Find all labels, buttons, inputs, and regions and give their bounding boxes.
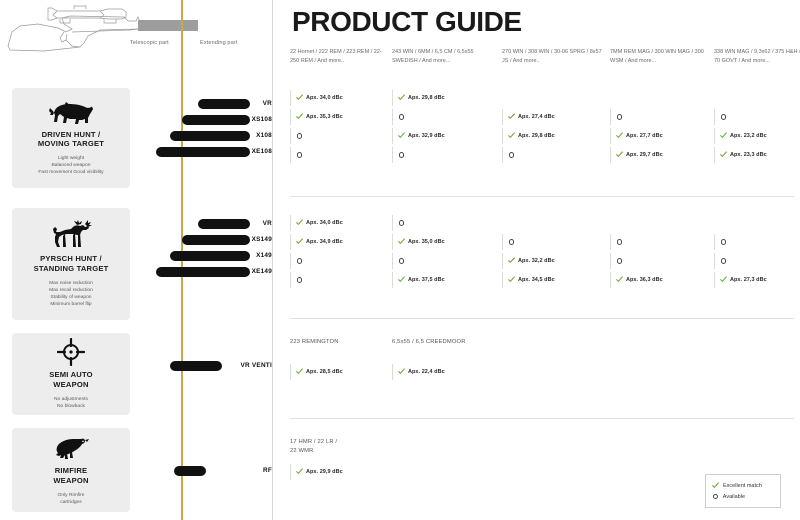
cell-value: Apx. 34,0 dBc xyxy=(306,220,343,226)
circle-icon xyxy=(297,152,302,157)
rifle-illustration xyxy=(4,2,234,54)
product-row[interactable]: XE108 xyxy=(140,144,272,160)
category-card-3[interactable]: RIMFIRE WEAPONOnly Rimfire cartridges xyxy=(12,428,130,512)
product-label: XS149 xyxy=(252,236,272,243)
moose-icon xyxy=(47,220,95,250)
category-subtitle: Max noise reduction Max recoil reduction… xyxy=(49,280,93,308)
match-cell xyxy=(714,234,800,250)
check-icon xyxy=(296,238,303,245)
product-label: X108 xyxy=(256,132,272,139)
match-cell: Apx. 23,2 dBc xyxy=(714,128,800,144)
product-group-2: VR VENTI xyxy=(140,358,272,374)
match-cell xyxy=(290,272,392,288)
match-cell: Apx. 35,3 dBc xyxy=(290,109,392,125)
cell-value: Apx. 36,3 dBc xyxy=(626,277,663,283)
circle-icon xyxy=(721,239,726,244)
check-icon xyxy=(720,132,727,139)
cell-value: Apx. 29,7 dBc xyxy=(626,152,663,158)
circle-icon xyxy=(617,258,622,263)
product-bar xyxy=(174,466,206,476)
match-cell: Apx. 23,3 dBc xyxy=(714,147,800,163)
boar-icon xyxy=(47,100,95,126)
check-icon xyxy=(398,276,405,283)
cell-value: Apx. 29,8 dBc xyxy=(408,95,445,101)
check-icon xyxy=(296,219,303,226)
match-cell: Apx. 29,7 dBc xyxy=(610,147,712,163)
category-subtitle: Only Rimfire cartridges xyxy=(58,492,85,506)
product-group-3: RF xyxy=(140,463,272,479)
category-title: SEMI AUTO WEAPON xyxy=(49,370,93,389)
column-header-4: 338 WIN MAG / 9,3x62 / 375 H&H / 45-70 G… xyxy=(714,48,800,66)
cell-value: Apx. 34,9 dBc xyxy=(306,239,343,245)
match-cell: Apx. 27,3 dBc xyxy=(714,272,800,288)
match-cell: Apx. 35,0 dBc xyxy=(392,234,494,250)
match-cell: Apx. 27,7 dBc xyxy=(610,128,712,144)
circle-icon xyxy=(721,258,726,263)
cell-value: Apx. 29,9 dBc xyxy=(306,469,343,475)
circle-icon xyxy=(509,152,514,157)
section-divider-2 xyxy=(290,418,794,419)
check-icon xyxy=(398,94,405,101)
section-divider-0 xyxy=(290,196,794,197)
product-row[interactable]: VR xyxy=(140,96,272,112)
check-icon xyxy=(398,238,405,245)
cell-value: Apx. 27,7 dBc xyxy=(626,133,663,139)
column-header-1: 243 WIN / 6MM / 6,5 CM / 6,5x55 SWEDISH … xyxy=(392,48,492,66)
extending-part-label: Extending part xyxy=(200,40,237,46)
match-cell: Apx. 34,5 dBc xyxy=(502,272,604,288)
right-panel: PRODUCT GUIDE 22 Hornet / 222 REM / 223 … xyxy=(272,0,800,520)
cell-value: Apx. 34,0 dBc xyxy=(306,95,343,101)
match-cell: Apx. 34,0 dBc xyxy=(290,215,392,231)
match-cell: Apx. 29,9 dBc xyxy=(290,464,392,480)
check-icon xyxy=(296,94,303,101)
product-bar xyxy=(156,267,250,277)
check-icon xyxy=(508,132,515,139)
circle-icon xyxy=(399,258,404,263)
circle-icon xyxy=(297,277,302,282)
match-cell: Apx. 27,4 dBc xyxy=(502,109,604,125)
match-cell xyxy=(610,234,712,250)
match-cell: Apx. 34,9 dBc xyxy=(290,234,392,250)
grouse-icon xyxy=(51,434,91,462)
match-cell xyxy=(502,147,604,163)
match-cell xyxy=(290,128,392,144)
match-cell xyxy=(392,253,494,269)
circle-icon xyxy=(297,258,302,263)
product-bar xyxy=(156,147,250,157)
column-header-3: 7MM REM MAG / 300 WIN MAG / 300 WSM / An… xyxy=(610,48,710,66)
check-icon xyxy=(296,368,303,375)
check-icon xyxy=(720,276,727,283)
check-icon xyxy=(712,482,719,489)
product-guide-page: Telescopic part Extending part DRIVEN HU… xyxy=(0,0,800,520)
check-icon xyxy=(616,132,623,139)
circle-icon xyxy=(713,494,718,499)
circle-icon xyxy=(509,239,514,244)
cell-value: Apx. 22,4 dBc xyxy=(408,369,445,375)
check-icon xyxy=(720,151,727,158)
category-subtitle: No adjustments No blowback xyxy=(54,396,88,410)
match-cell xyxy=(502,234,604,250)
match-cell: Apx. 29,8 dBc xyxy=(392,90,494,106)
cell-value: Apx. 23,3 dBc xyxy=(730,152,767,158)
check-icon xyxy=(508,276,515,283)
product-row[interactable]: VR xyxy=(140,216,272,232)
product-row[interactable]: XE149 xyxy=(140,264,272,280)
check-icon xyxy=(508,257,515,264)
legend-excellent-label: Excellent match xyxy=(723,483,762,489)
check-icon xyxy=(508,113,515,120)
circle-icon xyxy=(297,133,302,138)
legend-available-label: Available xyxy=(723,494,745,500)
telescopic-part-label: Telescopic part xyxy=(130,40,169,46)
crosshair-icon xyxy=(57,338,85,366)
match-cell: Apx. 29,8 dBc xyxy=(502,128,604,144)
product-label: VR xyxy=(263,220,272,227)
product-bar xyxy=(182,235,250,245)
cell-value: Apx. 34,5 dBc xyxy=(518,277,555,283)
category-card-1[interactable]: PYRSCH HUNT / STANDING TARGETMax noise r… xyxy=(12,208,130,320)
product-label: XE108 xyxy=(252,148,272,155)
product-label: XS108 xyxy=(252,116,272,123)
cell-value: Apx. 37,5 dBc xyxy=(408,277,445,283)
product-row[interactable]: X149 xyxy=(140,248,272,264)
match-cell: Apx. 34,0 dBc xyxy=(290,90,392,106)
circle-icon xyxy=(721,114,726,119)
match-cell: Apx. 22,4 dBc xyxy=(392,364,494,380)
product-bar xyxy=(170,131,250,141)
product-label: VR VENTI xyxy=(241,362,272,369)
cell-value: Apx. 27,4 dBc xyxy=(518,114,555,120)
legend: Excellent match Available xyxy=(705,474,781,508)
product-label: XE149 xyxy=(252,268,272,275)
sub-header: 223 REMINGTON xyxy=(290,338,339,347)
category-subtitle: Light weight Balanced weapon Fast moveme… xyxy=(38,155,103,176)
match-cell xyxy=(714,253,800,269)
match-cell: Apx. 36,3 dBc xyxy=(610,272,712,288)
product-label: VR xyxy=(263,100,272,107)
product-row[interactable]: XS108 xyxy=(140,112,272,128)
match-cell xyxy=(714,109,800,125)
match-cell: Apx. 32,9 dBc xyxy=(392,128,494,144)
cell-value: Apx. 35,3 dBc xyxy=(306,114,343,120)
match-cell xyxy=(392,147,494,163)
category-card-2[interactable]: SEMI AUTO WEAPONNo adjustments No blowba… xyxy=(12,333,130,415)
match-cell xyxy=(610,253,712,269)
match-cell xyxy=(290,147,392,163)
cell-value: Apx. 32,2 dBc xyxy=(518,258,555,264)
circle-icon xyxy=(617,239,622,244)
product-group-0: VRXS108X108XE108 xyxy=(140,96,272,160)
cell-value: Apx. 29,8 dBc xyxy=(518,133,555,139)
column-header-2: 270 WIN / 308 WIN / 30-06 SPRG / 8x57 JS… xyxy=(502,48,602,66)
check-icon xyxy=(296,113,303,120)
product-row[interactable]: XS149 xyxy=(140,232,272,248)
column-header-0: 22 Hornet / 222 REM / 223 REM / 22-250 R… xyxy=(290,48,390,66)
circle-icon xyxy=(399,220,404,225)
check-icon xyxy=(398,132,405,139)
match-cell xyxy=(290,253,392,269)
check-icon xyxy=(398,368,405,375)
circle-icon xyxy=(399,114,404,119)
match-cell xyxy=(392,215,494,231)
check-icon xyxy=(616,151,623,158)
cell-value: Apx. 35,0 dBc xyxy=(408,239,445,245)
cell-value: Apx. 27,3 dBc xyxy=(730,277,767,283)
check-icon xyxy=(616,276,623,283)
sub-header: 17 HMR / 22 LR / 22 WMR xyxy=(290,438,337,456)
product-bar xyxy=(198,99,250,109)
product-bar xyxy=(170,251,250,261)
page-title: PRODUCT GUIDE xyxy=(292,6,522,38)
product-bar xyxy=(198,219,250,229)
legend-row-available: Available xyxy=(712,491,774,502)
left-panel: Telescopic part Extending part DRIVEN HU… xyxy=(0,0,272,520)
product-bar xyxy=(170,361,222,371)
circle-icon xyxy=(617,114,622,119)
match-cell xyxy=(610,109,712,125)
cell-value: Apx. 28,5 dBc xyxy=(306,369,343,375)
product-row[interactable]: RF xyxy=(140,463,272,479)
circle-icon xyxy=(399,152,404,157)
product-row[interactable]: X108 xyxy=(140,128,272,144)
cell-value: Apx. 32,9 dBc xyxy=(408,133,445,139)
category-title: DRIVEN HUNT / MOVING TARGET xyxy=(38,130,104,149)
product-label: RF xyxy=(263,467,272,474)
match-cell xyxy=(392,109,494,125)
category-card-0[interactable]: DRIVEN HUNT / MOVING TARGETLight weight … xyxy=(12,88,130,188)
product-bar xyxy=(182,115,250,125)
legend-row-excellent: Excellent match xyxy=(712,480,774,491)
product-row[interactable]: VR VENTI xyxy=(140,358,272,374)
section-divider-1 xyxy=(290,318,794,319)
sub-header: 6,5x55 / 6,5 CREEDMOOR xyxy=(392,338,466,347)
match-cell: Apx. 28,5 dBc xyxy=(290,364,392,380)
product-label: X149 xyxy=(256,252,272,259)
cell-value: Apx. 23,2 dBc xyxy=(730,133,767,139)
category-title: RIMFIRE WEAPON xyxy=(53,466,88,485)
match-cell: Apx. 37,5 dBc xyxy=(392,272,494,288)
match-cell: Apx. 32,2 dBc xyxy=(502,253,604,269)
product-group-1: VRXS149X149XE149 xyxy=(140,216,272,280)
check-icon xyxy=(296,468,303,475)
category-title: PYRSCH HUNT / STANDING TARGET xyxy=(34,254,109,273)
